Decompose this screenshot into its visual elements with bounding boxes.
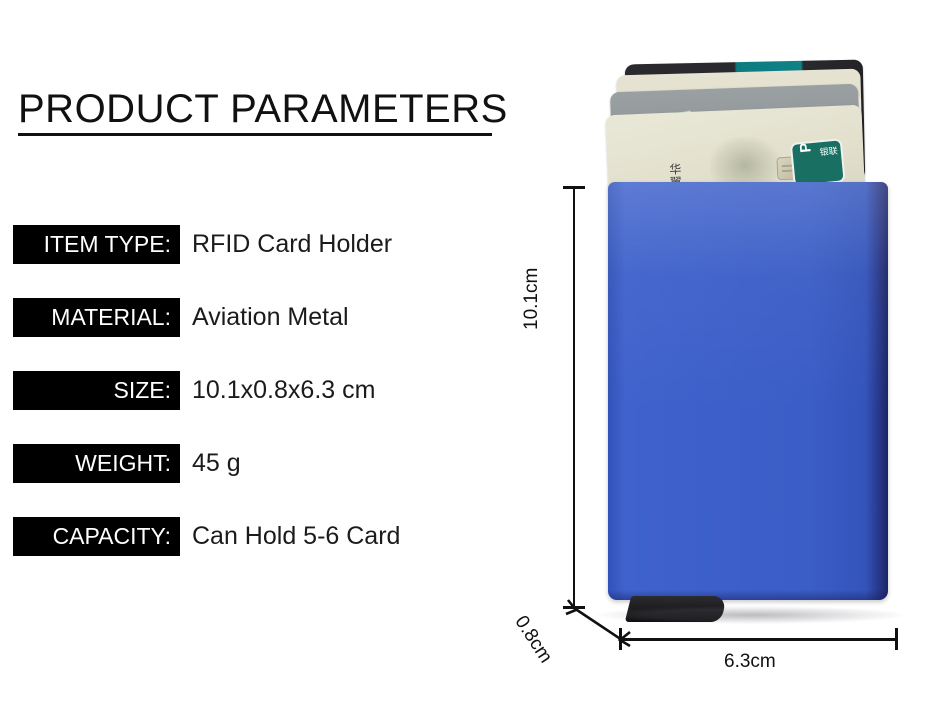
pay-badge-label: Pay bbox=[796, 138, 815, 153]
width-dimension-label: 6.3cm bbox=[724, 651, 776, 673]
title-underline bbox=[18, 133, 492, 136]
width-dimension-line bbox=[620, 638, 898, 641]
spec-row-material: MATERIAL: Aviation Metal bbox=[0, 292, 520, 365]
width-dimension-tick-right bbox=[895, 628, 898, 650]
spec-row-capacity: CAPACITY: Can Hold 5-6 Card bbox=[0, 511, 520, 584]
spec-row-item-type: ITEM TYPE: RFID Card Holder bbox=[0, 219, 520, 292]
product-parameters-infographic: PRODUCT PARAMETERS ITEM TYPE: RFID Card … bbox=[0, 0, 950, 708]
spec-value-capacity: Can Hold 5-6 Card bbox=[192, 517, 400, 556]
page-title: PRODUCT PARAMETERS bbox=[18, 88, 496, 130]
spec-label-weight: WEIGHT: bbox=[13, 444, 180, 483]
pay-badge-cn-label: 银联 bbox=[820, 148, 839, 159]
spec-label-material: MATERIAL: bbox=[13, 298, 180, 337]
height-dimension-label: 10.1cm bbox=[521, 268, 543, 330]
spec-value-material: Aviation Metal bbox=[192, 298, 349, 337]
spec-value-size: 10.1x0.8x6.3 cm bbox=[192, 371, 375, 410]
spec-value-weight: 45 g bbox=[192, 444, 241, 483]
pay-badge: Pay 银联 bbox=[790, 138, 846, 187]
spec-row-weight: WEIGHT: 45 g bbox=[0, 438, 520, 511]
spec-value-item-type: RFID Card Holder bbox=[192, 225, 392, 264]
thickness-dimension-arrow-icon bbox=[560, 596, 640, 656]
spec-label-item-type: ITEM TYPE: bbox=[13, 225, 180, 264]
title-block: PRODUCT PARAMETERS bbox=[18, 88, 496, 136]
case-sheen bbox=[608, 182, 888, 600]
spec-label-size: SIZE: bbox=[13, 371, 180, 410]
spec-row-size: SIZE: 10.1x0.8x6.3 cm bbox=[0, 365, 520, 438]
height-dimension-line bbox=[573, 188, 575, 608]
metal-card-case bbox=[608, 182, 888, 600]
spec-label-capacity: CAPACITY: bbox=[13, 517, 180, 556]
spec-list: ITEM TYPE: RFID Card Holder MATERIAL: Av… bbox=[0, 219, 520, 584]
case-drop-shadow bbox=[596, 606, 906, 624]
